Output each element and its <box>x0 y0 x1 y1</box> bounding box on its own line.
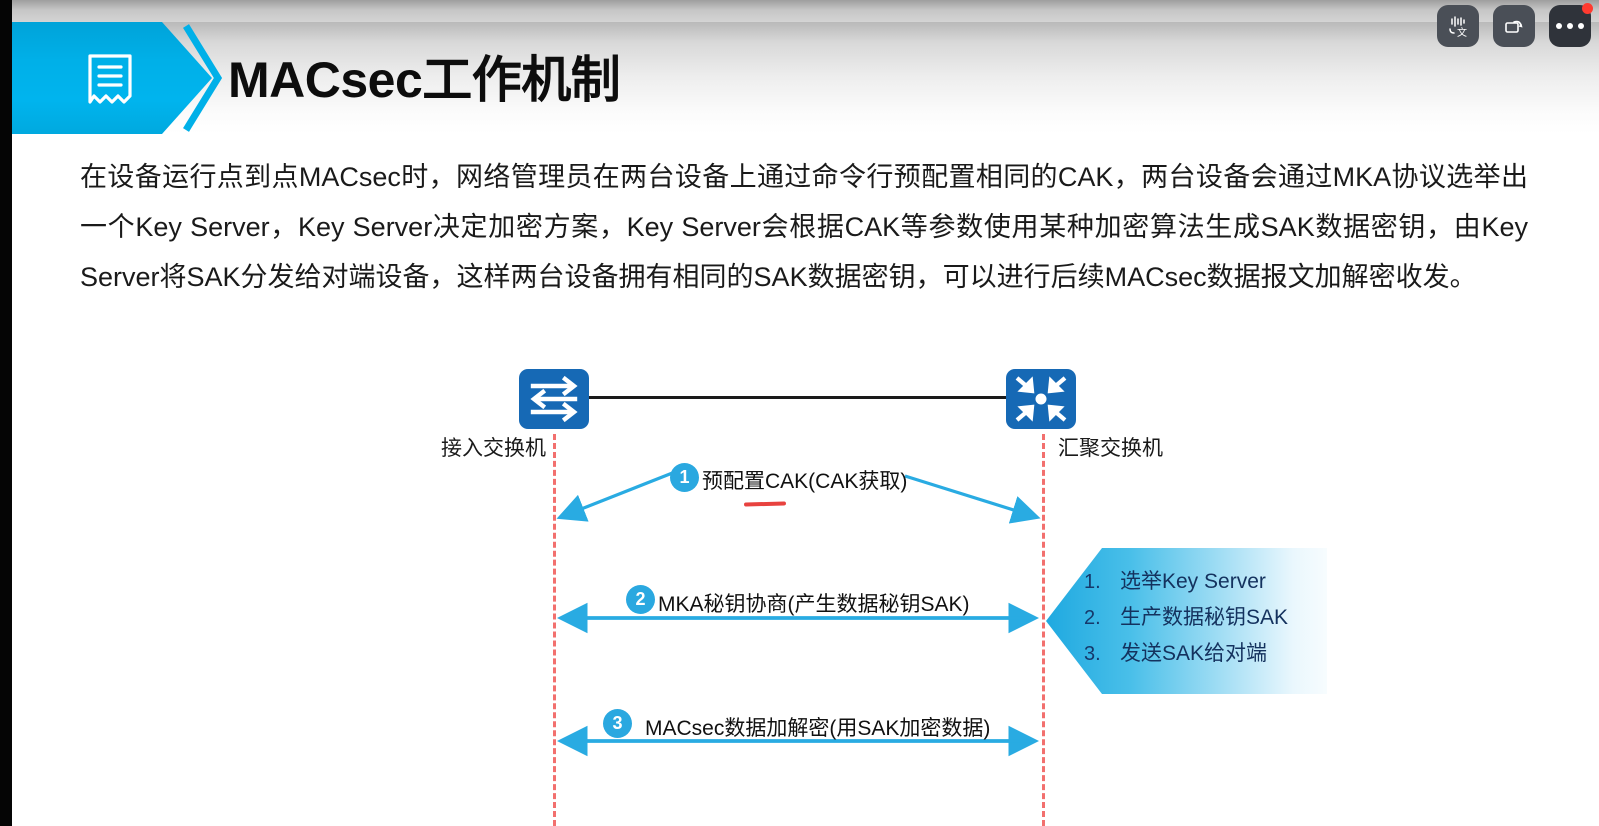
step1-arrow-right <box>905 476 1036 517</box>
rotate-screen-icon <box>1502 14 1526 38</box>
step-badge-3: 3 <box>603 709 632 738</box>
paragraph-text: 在设备运行点到点MACsec时，网络管理员在两台设备上通过命令行预配置相同的CA… <box>80 152 1528 302</box>
more-options-button[interactable] <box>1549 5 1591 47</box>
callout-list: 1. 选举Key Server 2. 生产数据秘钥SAK 3. 发送SAK给对端 <box>1084 565 1334 673</box>
slide-header: MACsec工作机制 <box>12 22 1599 134</box>
page-title: MACsec工作机制 <box>228 48 620 112</box>
callout-item-text: 生产数据秘钥SAK <box>1120 601 1288 631</box>
step-label-2: MKA秘钥协商(产生数据秘钥SAK) <box>658 588 970 618</box>
slide-page: MACsec工作机制 在设备运行点到点MACsec时，网络管理员在两台设备上通过… <box>0 0 1599 826</box>
callout-item: 2. 生产数据秘钥SAK <box>1084 601 1334 637</box>
callout-item-number: 3. <box>1084 643 1120 666</box>
top-gray-band <box>12 0 1599 22</box>
document-list-icon <box>84 52 136 108</box>
callout-item-number: 1. <box>1084 571 1120 594</box>
step-label-1: 预配置CAK(CAK获取) <box>702 465 907 495</box>
callout-item-text: 发送SAK给对端 <box>1120 637 1267 667</box>
header-chevron-icon <box>180 22 222 134</box>
notification-badge <box>1582 3 1593 14</box>
more-dots-icon <box>1556 23 1584 29</box>
rotate-screen-button[interactable] <box>1493 5 1535 47</box>
callout-item-number: 2. <box>1084 607 1120 630</box>
step1-arrow-left <box>561 470 680 517</box>
floating-toolbar: 文 <box>1437 5 1591 47</box>
callout-item-text: 选举Key Server <box>1120 565 1266 595</box>
step-label-3: MACsec数据加解密(用SAK加密数据) <box>645 712 990 742</box>
callout-item: 3. 发送SAK给对端 <box>1084 637 1334 673</box>
translate-button[interactable]: 文 <box>1437 5 1479 47</box>
macsec-sequence-diagram: 接入交换机 汇聚交换机 <box>0 350 1599 826</box>
step-badge-2: 2 <box>626 585 655 614</box>
svg-text:文: 文 <box>1457 26 1467 38</box>
callout-item: 1. 选举Key Server <box>1084 565 1334 601</box>
step-badge-1: 1 <box>670 463 699 492</box>
body-paragraph: 在设备运行点到点MACsec时，网络管理员在两台设备上通过命令行预配置相同的CA… <box>80 152 1528 302</box>
left-black-strip <box>0 0 12 826</box>
translate-voice-icon: 文 <box>1446 14 1470 38</box>
